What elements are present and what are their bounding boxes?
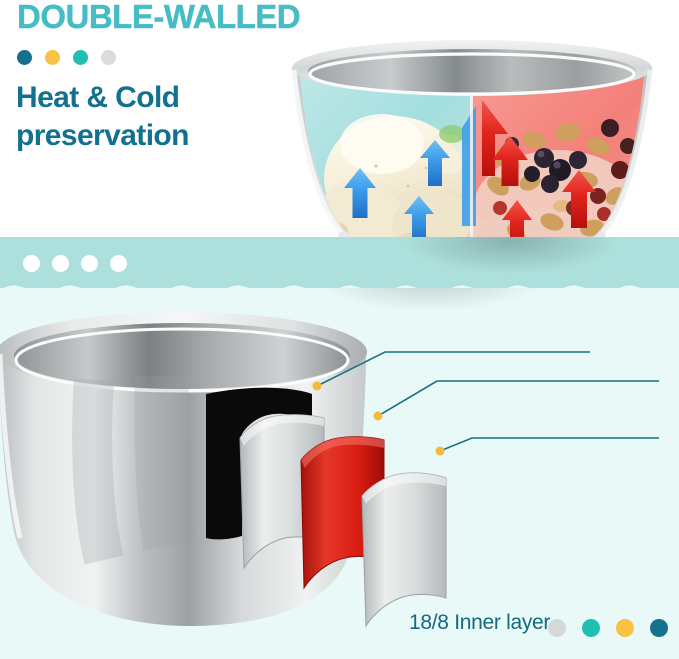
subtitle-line-2: preservation <box>16 117 286 155</box>
header-dot-teal <box>73 50 88 65</box>
footer-dot-gray <box>548 619 566 637</box>
top-panel: DOUBLE-WALLED Heat & Cold preservation <box>0 0 679 237</box>
page-title: DOUBLE-WALLED <box>17 0 300 36</box>
label-inner-layer: 18/8 Inner layer <box>409 611 550 635</box>
band-dot-2 <box>52 255 69 272</box>
page-subtitle: Heat & Cold preservation <box>16 79 286 155</box>
band-dot-1 <box>23 255 40 272</box>
header-dot-amber <box>45 50 60 65</box>
footer-dot-row <box>548 619 668 637</box>
band-dot-4 <box>110 255 127 272</box>
cutaway-bowl-illustration <box>0 310 514 640</box>
header-dot-row <box>17 50 116 65</box>
header-dot-gray <box>101 50 116 65</box>
teal-divider-band <box>0 237 679 295</box>
header-dot-dark-teal <box>17 50 32 65</box>
footer-dot-teal <box>582 619 600 637</box>
hot-cold-bowl-image <box>286 36 658 237</box>
infographic-root: DOUBLE-WALLED Heat & Cold preservation <box>0 0 679 659</box>
bottom-panel: 18/8 Inner layer Vacuum insulated 18/8 o… <box>0 288 679 659</box>
band-dot-3 <box>81 255 98 272</box>
subtitle-line-1: Heat & Cold <box>16 81 179 114</box>
bowl-rim <box>292 40 652 96</box>
band-dot-row <box>23 255 127 272</box>
outer-steel-layer <box>362 473 446 626</box>
footer-dot-amber <box>616 619 634 637</box>
footer-dot-dark-teal <box>650 619 668 637</box>
